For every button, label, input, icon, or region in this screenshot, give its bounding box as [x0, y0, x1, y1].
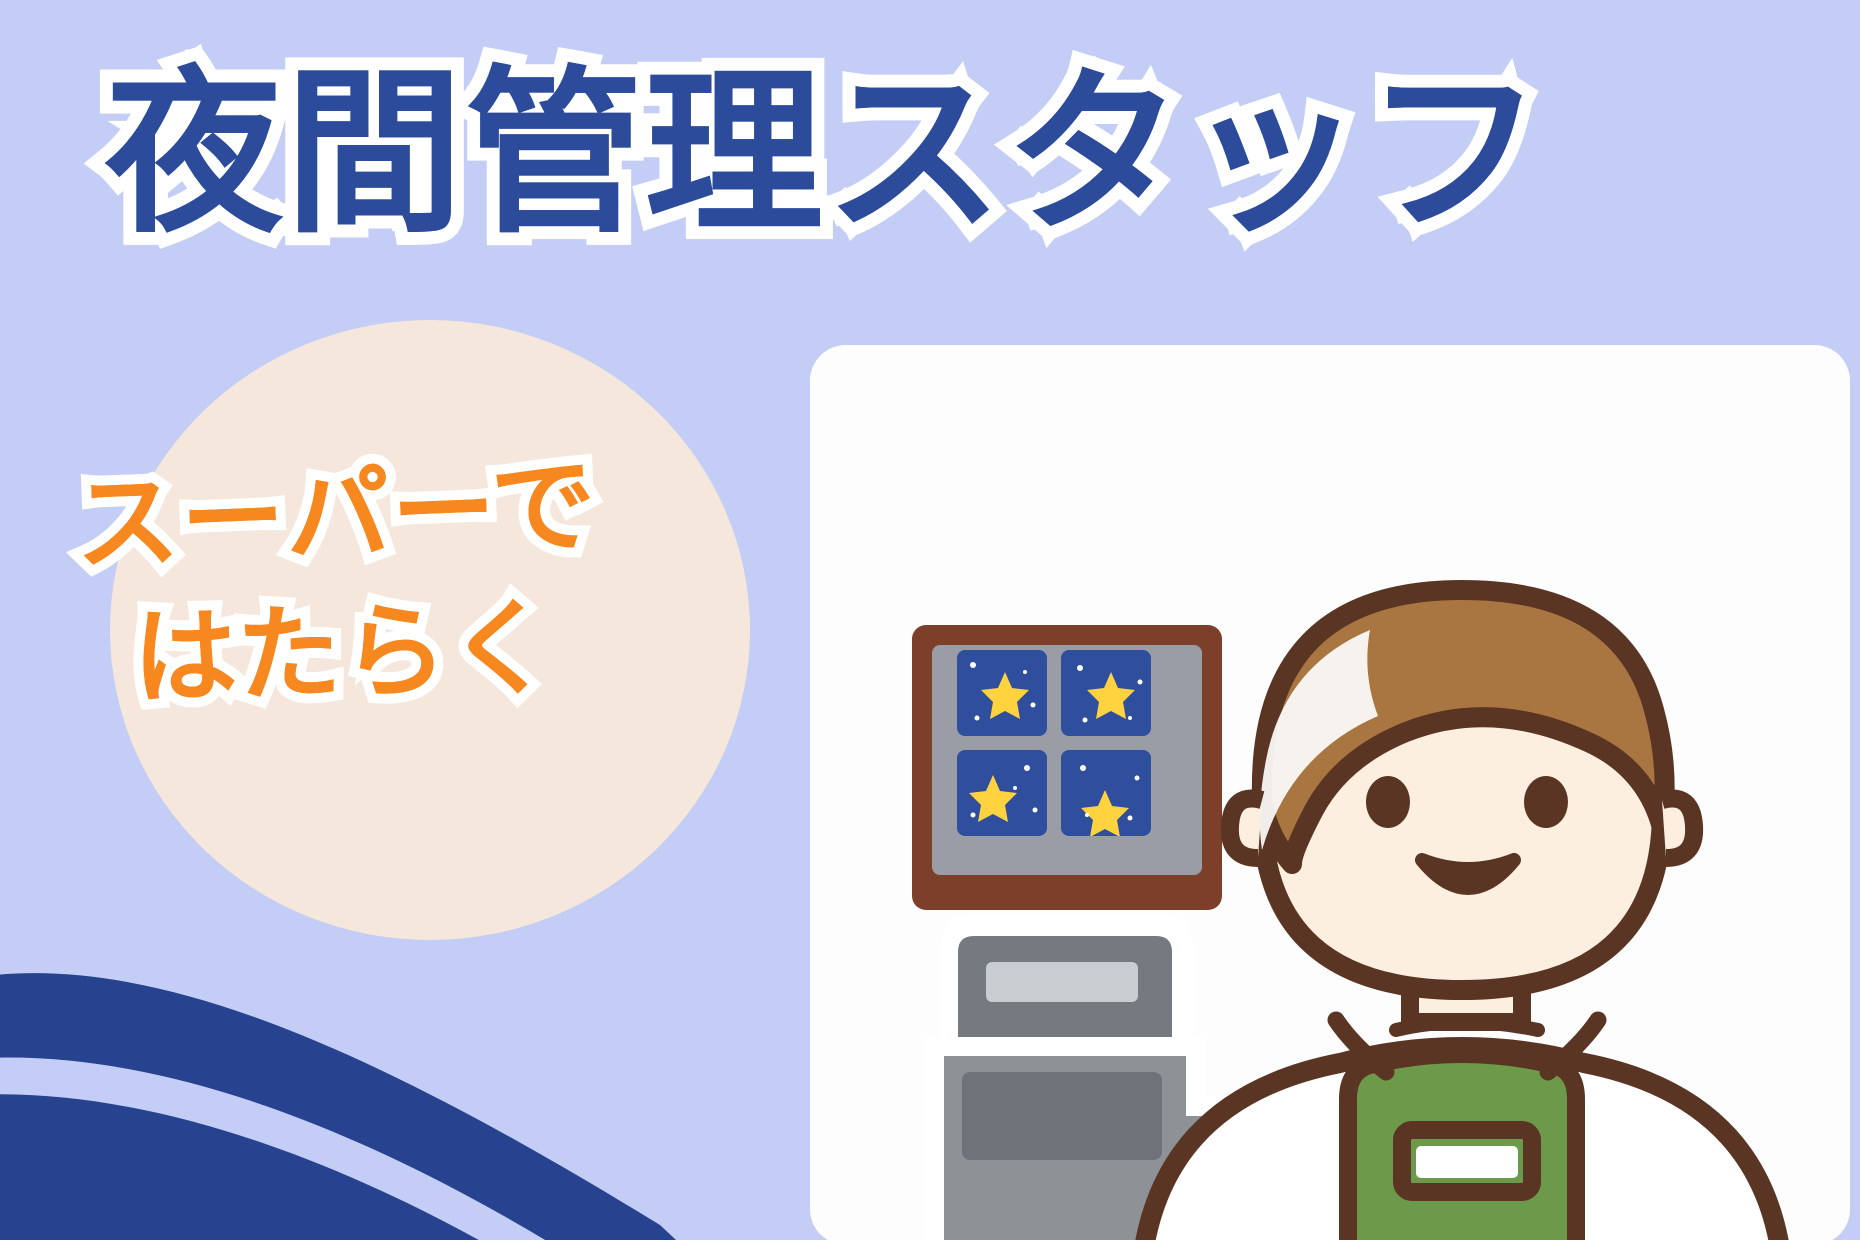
poster-canvas: 夜間管理スタッフ 夜間管理スタッフ スーパーで はたらく スーパーで はたらく [0, 0, 1860, 1240]
subcopy-line-2: はたらく [131, 577, 796, 726]
subcopy-line-1: スーパーで [72, 432, 797, 593]
supermarket-clerk-illustration [810, 330, 1860, 1240]
subcopy: スーパーで はたらく [75, 460, 795, 726]
window-group [912, 625, 1222, 910]
page-title: 夜間管理スタッフ [105, 60, 1835, 249]
